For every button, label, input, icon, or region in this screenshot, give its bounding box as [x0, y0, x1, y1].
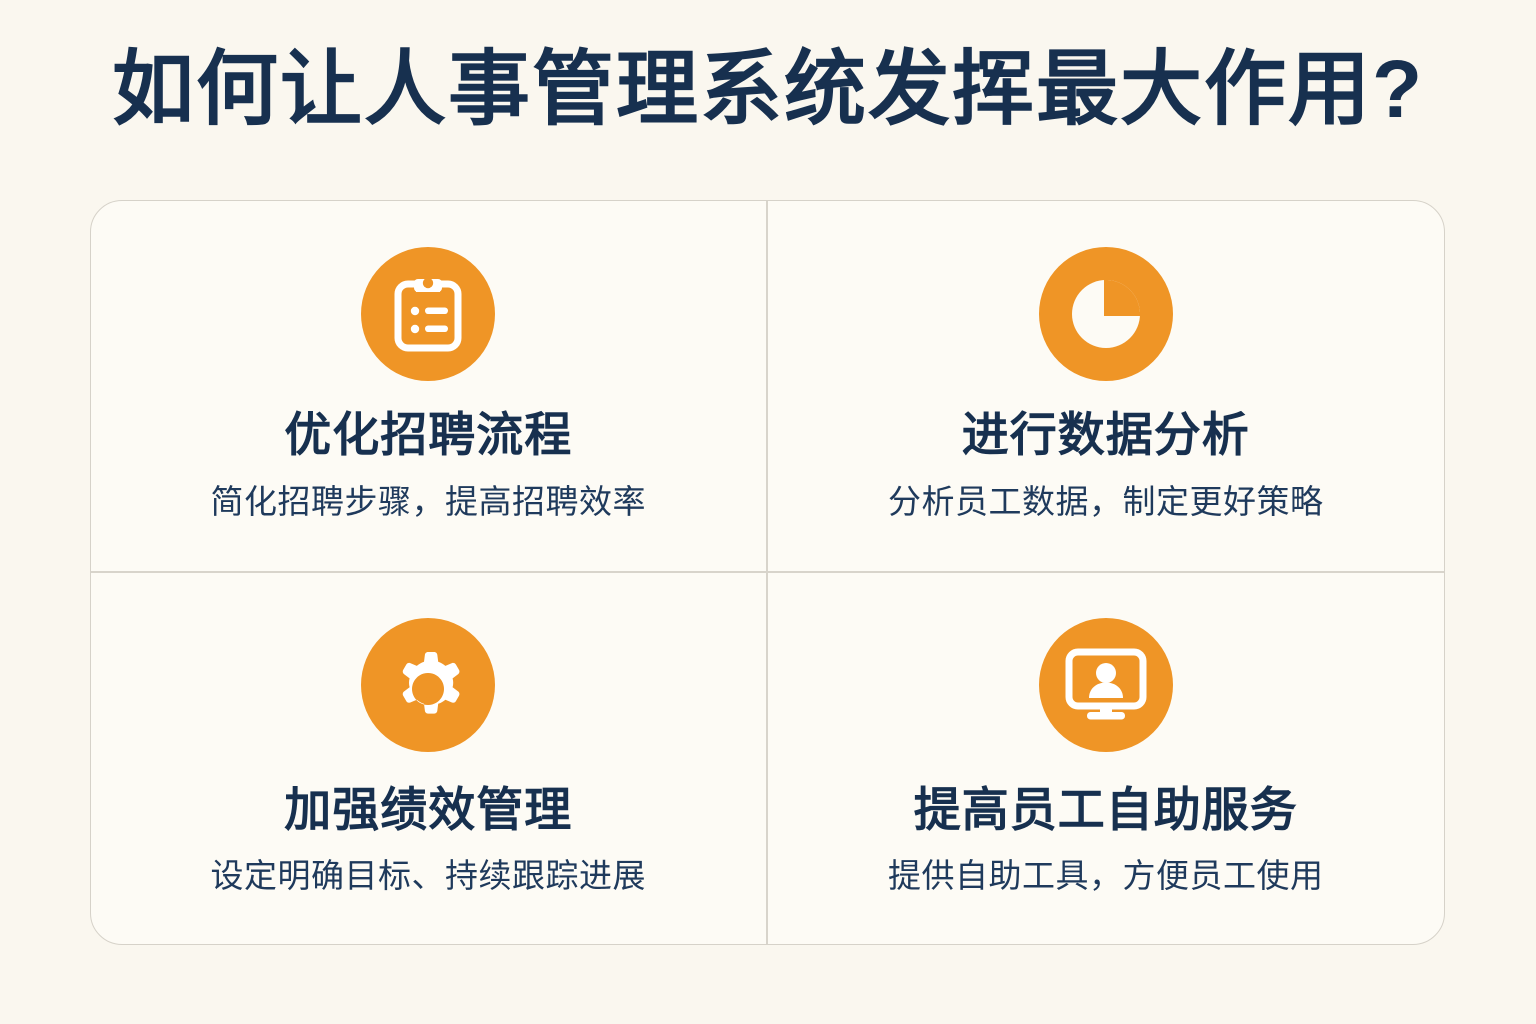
feature-card-title: 进行数据分析 [962, 407, 1250, 463]
monitor-user-icon [1039, 618, 1173, 752]
feature-card-description: 分析员工数据，制定更好策略 [888, 480, 1324, 525]
feature-card-description: 提供自助工具，方便员工使用 [888, 854, 1324, 899]
feature-card-description: 设定明确目标、持续跟踪进展 [211, 854, 647, 899]
page-title: 如何让人事管理系统发挥最大作用? [0, 44, 1536, 136]
feature-grid-panel: 优化招聘流程 简化招聘步骤，提高招聘效率 进行数据分析 分析员工数据，制定更好策… [90, 200, 1445, 945]
pie-chart-icon [1039, 247, 1173, 381]
clipboard-checklist-icon [361, 247, 495, 381]
feature-card-title: 优化招聘流程 [284, 407, 572, 463]
feature-card-title: 提高员工自助服务 [914, 782, 1298, 838]
feature-card-data-analysis[interactable]: 进行数据分析 分析员工数据，制定更好策略 [768, 201, 1445, 573]
feature-card-performance[interactable]: 加强绩效管理 设定明确目标、持续跟踪进展 [91, 573, 768, 945]
feature-card-description: 简化招聘步骤，提高招聘效率 [211, 480, 647, 525]
gear-icon [361, 618, 495, 752]
feature-card-recruitment[interactable]: 优化招聘流程 简化招聘步骤，提高招聘效率 [91, 201, 768, 573]
feature-card-self-service[interactable]: 提高员工自助服务 提供自助工具，方便员工使用 [768, 573, 1445, 945]
feature-card-title: 加强绩效管理 [284, 782, 572, 838]
